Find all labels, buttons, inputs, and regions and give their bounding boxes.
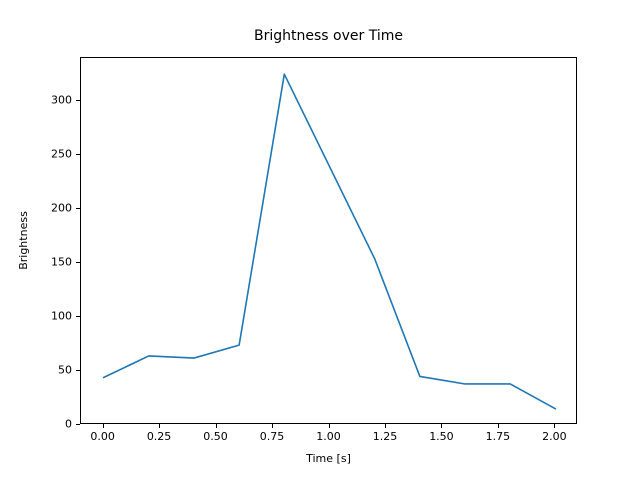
x-tick-label: 1.25 xyxy=(373,430,398,443)
y-tick-mark xyxy=(76,370,80,371)
y-tick-mark xyxy=(76,154,80,155)
y-tick-mark xyxy=(76,424,80,425)
y-tick-mark xyxy=(76,208,80,209)
x-tick-mark xyxy=(498,424,499,428)
x-tick-label: 2.00 xyxy=(542,430,567,443)
data-polyline xyxy=(104,74,556,409)
y-tick-label: 0 xyxy=(65,418,72,431)
x-tick-mark xyxy=(159,424,160,428)
y-tick-mark xyxy=(76,100,80,101)
y-tick-label: 300 xyxy=(51,94,72,107)
x-axis-label: Time [s] xyxy=(80,452,577,465)
y-tick-label: 100 xyxy=(51,310,72,323)
chart-title: Brightness over Time xyxy=(80,28,577,44)
x-tick-mark xyxy=(385,424,386,428)
y-tick-label: 200 xyxy=(51,202,72,215)
x-tick-label: 1.75 xyxy=(486,430,511,443)
y-axis-label-text: Brightness xyxy=(17,211,30,270)
x-tick-label: 0.25 xyxy=(147,430,172,443)
x-tick-label: 0.75 xyxy=(260,430,285,443)
brightness-line-series xyxy=(81,58,578,425)
y-tick-label: 250 xyxy=(51,148,72,161)
plot-area xyxy=(80,57,577,424)
y-tick-label: 150 xyxy=(51,256,72,269)
plot-inner xyxy=(81,58,576,423)
y-axis-label: Brightness xyxy=(16,57,30,424)
y-tick-mark xyxy=(76,262,80,263)
x-tick-mark xyxy=(216,424,217,428)
x-tick-mark xyxy=(272,424,273,428)
y-tick-mark xyxy=(76,316,80,317)
x-tick-label: 1.00 xyxy=(316,430,341,443)
x-tick-mark xyxy=(554,424,555,428)
matplotlib-figure: Brightness over Time 0.000.250.500.751.0… xyxy=(0,0,640,480)
x-tick-label: 0.50 xyxy=(203,430,228,443)
y-tick-label: 50 xyxy=(58,364,72,377)
x-tick-label: 0.00 xyxy=(90,430,115,443)
x-tick-mark xyxy=(441,424,442,428)
x-tick-mark xyxy=(103,424,104,428)
x-tick-mark xyxy=(329,424,330,428)
x-tick-label: 1.50 xyxy=(429,430,454,443)
